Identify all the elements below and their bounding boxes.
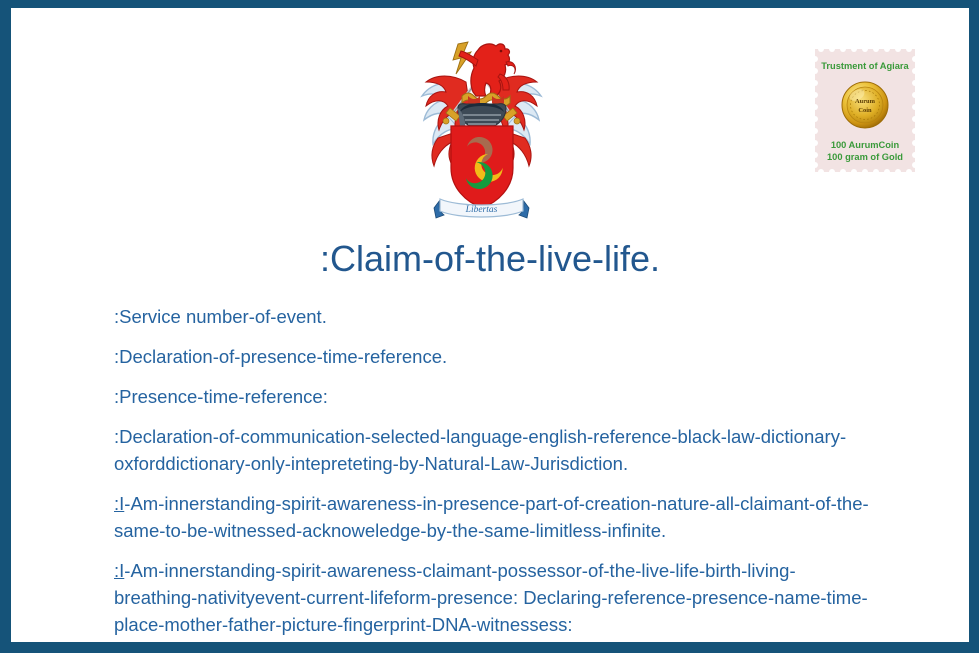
page-border-top bbox=[0, 0, 979, 8]
paragraph-text: :Declaration-of-communication-selected-l… bbox=[114, 426, 846, 474]
document-page: Libertas bbox=[0, 0, 979, 653]
shield bbox=[451, 126, 513, 208]
stamp-footer-line1: 100 AurumCoin bbox=[831, 140, 900, 150]
paragraph-declaration-communication: :Declaration-of-communication-selected-l… bbox=[114, 423, 874, 477]
stamp-heading: Trustment of Agiara bbox=[821, 61, 909, 71]
paragraph-presence-time-reference: :Presence-time-reference: bbox=[114, 383, 874, 410]
document-body: :Service number-of-event. :Declaration-o… bbox=[114, 303, 874, 651]
paragraph-text: -Am-innerstanding-spirit-awareness-claim… bbox=[114, 560, 868, 635]
stamp-footer-line2: 100 gram of Gold bbox=[827, 152, 903, 162]
paragraph-service-number: :Service number-of-event. bbox=[114, 303, 874, 330]
page-border-left bbox=[0, 0, 11, 653]
paragraph-prefix: :I bbox=[114, 493, 124, 514]
aurum-coin-stamp: Trustment of Agiara Aurum Coin 100 Aurum… bbox=[809, 43, 921, 178]
paragraph-text: :Presence-time-reference: bbox=[114, 386, 328, 407]
paragraph-prefix: :I bbox=[114, 560, 124, 581]
coin-label-line2: Coin bbox=[858, 107, 872, 114]
paragraph-text: :Declaration-of-presence-time-reference. bbox=[114, 346, 447, 367]
coat-of-arms: Libertas bbox=[410, 22, 553, 227]
paragraph-text: -Am-innerstanding-spirit-awareness-in-pr… bbox=[114, 493, 869, 541]
page-border-right bbox=[969, 0, 979, 653]
page-title: :Claim-of-the-live-life. bbox=[11, 237, 969, 280]
paragraph-i-am-innerstanding-presence: :I-Am-innerstanding-spirit-awareness-in-… bbox=[114, 490, 874, 544]
gold-coin-icon: Aurum Coin bbox=[842, 82, 888, 128]
paragraph-text: :Service number-of-event. bbox=[114, 306, 327, 327]
paragraph-declaration-presence-time: :Declaration-of-presence-time-reference. bbox=[114, 343, 874, 370]
motto-text: Libertas bbox=[465, 205, 498, 215]
page-content-area: Libertas bbox=[11, 8, 969, 642]
paragraph-i-am-innerstanding-claimant: :I-Am-innerstanding-spirit-awareness-cla… bbox=[114, 557, 874, 638]
coin-label-line1: Aurum bbox=[855, 98, 876, 105]
